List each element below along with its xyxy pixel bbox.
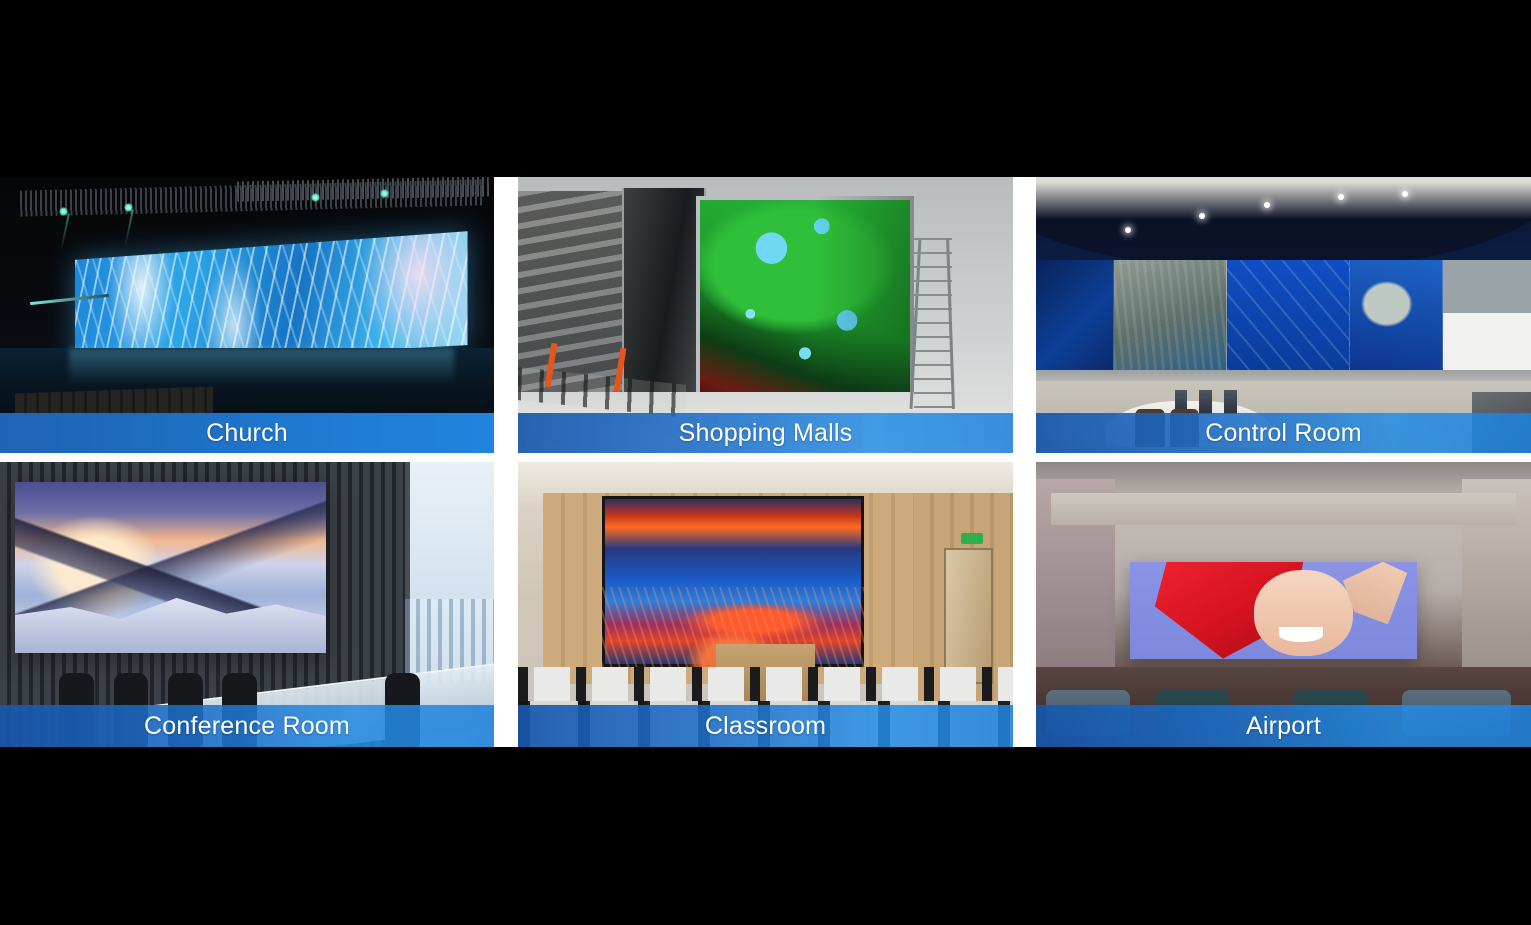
doorway	[622, 188, 706, 403]
card-label-bar: Conference Room	[0, 705, 494, 747]
led-wall	[75, 231, 468, 366]
card-label: Control Room	[1205, 419, 1362, 448]
light-beam-icon	[125, 209, 135, 247]
card-label: Church	[206, 419, 288, 448]
ceiling-light-icon	[1125, 227, 1131, 233]
scenario-grid: Church Shopping	[0, 177, 1531, 747]
step-ladder-icon	[909, 238, 968, 409]
scenario-card-church[interactable]: Church	[0, 177, 494, 453]
video-wall-panel	[1227, 260, 1351, 370]
led-cube-side-face	[815, 196, 914, 422]
video-wall-panel	[1443, 260, 1531, 370]
stage-reflection	[69, 348, 454, 384]
scenario-card-conference-room[interactable]: Conference Room	[0, 462, 494, 747]
application-scenarios-gallery: Church Shopping	[0, 177, 1531, 747]
video-wall-panel	[1114, 260, 1227, 370]
card-label-bar: Control Room	[1036, 413, 1531, 453]
exit-sign-icon	[961, 533, 983, 544]
card-label-bar: Church	[0, 413, 494, 453]
curved-video-wall	[1036, 260, 1531, 370]
video-wall-panel	[1036, 260, 1114, 370]
card-label: Airport	[1246, 712, 1321, 741]
card-label: Shopping Malls	[679, 419, 853, 448]
model-smile	[1279, 627, 1324, 641]
wall-header-band	[1051, 493, 1516, 524]
console-monitor	[1224, 390, 1237, 415]
scenario-card-classroom[interactable]: Classroom	[518, 462, 1013, 747]
card-label: Classroom	[705, 712, 826, 741]
scenario-card-shopping-malls[interactable]: Shopping Malls	[518, 177, 1013, 453]
ceiling-light-icon	[1338, 194, 1344, 200]
model-face	[1254, 570, 1353, 656]
console-monitor	[1199, 390, 1212, 415]
ceiling-light-icon	[1264, 202, 1270, 208]
classroom-door	[944, 548, 994, 685]
light-beam-icon	[60, 213, 70, 251]
video-wall-panel	[1350, 260, 1443, 370]
scenario-card-control-room[interactable]: Control Room	[1036, 177, 1531, 453]
curved-ceiling	[1036, 177, 1531, 271]
card-label-bar: Classroom	[518, 705, 1013, 747]
ladder-rungs	[914, 238, 952, 409]
card-label-bar: Airport	[1036, 705, 1531, 747]
control-room-photo	[1036, 177, 1531, 453]
church-photo	[0, 177, 494, 453]
scenario-card-airport[interactable]: Airport	[1036, 462, 1531, 747]
card-label-bar: Shopping Malls	[518, 413, 1013, 453]
screenshot-stage: Church Shopping	[0, 0, 1531, 925]
card-label: Conference Room	[144, 712, 350, 741]
shopping-malls-photo	[518, 177, 1013, 453]
